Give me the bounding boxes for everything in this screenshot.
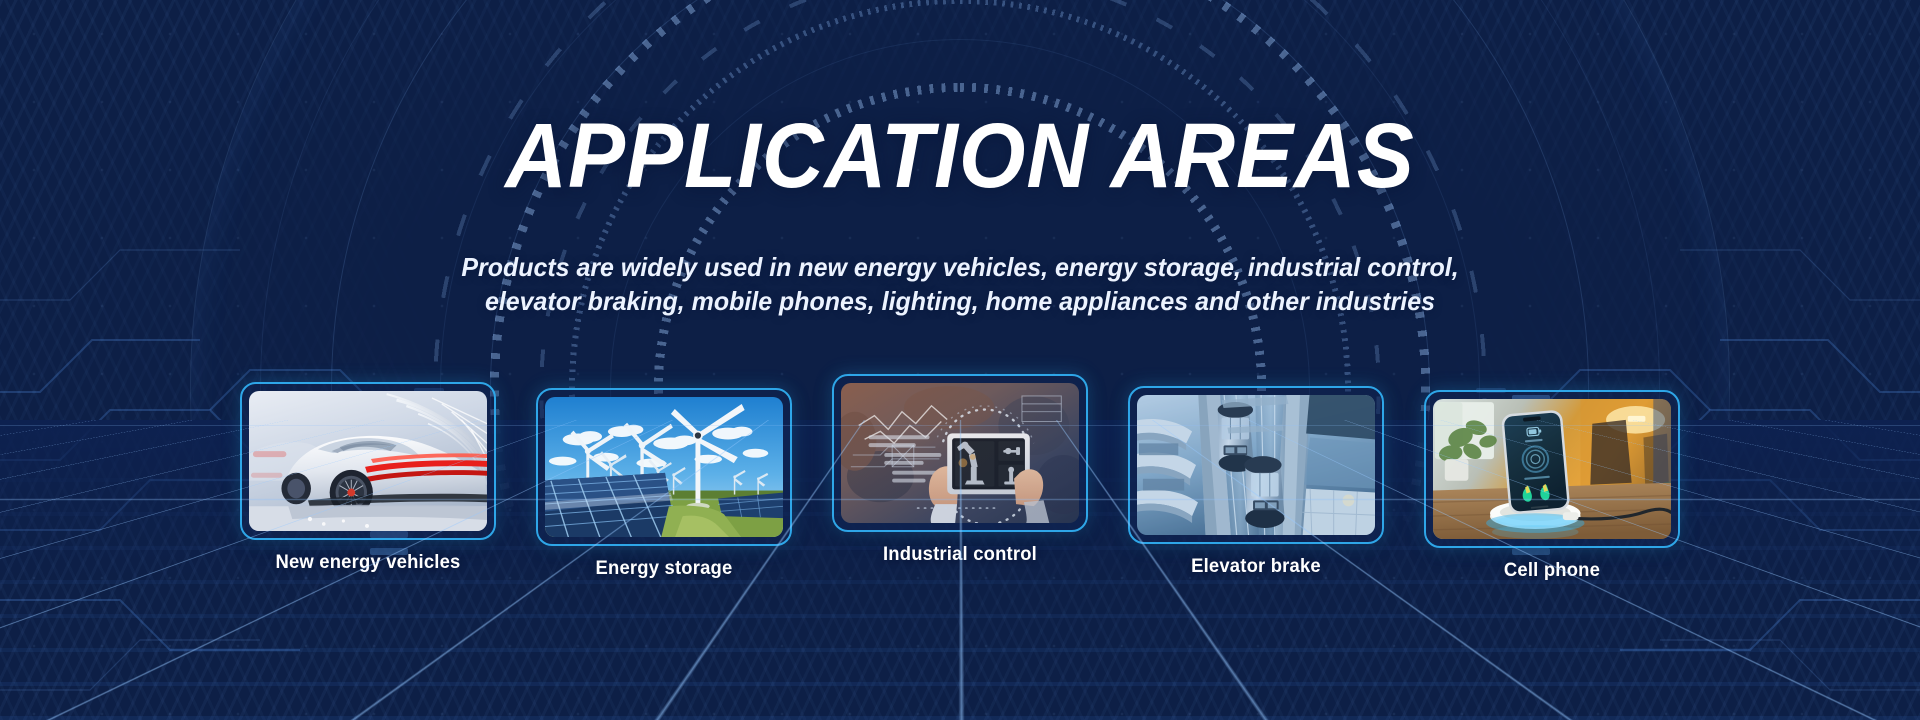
application-areas-banner: APPLICATION AREAS Products are widely us… [0, 0, 1920, 720]
card-frame[interactable] [536, 388, 792, 546]
card-label: Cell phone [1428, 560, 1676, 582]
tablet-robotic-arm-photo [841, 383, 1079, 523]
card-label: New energy vehicles [244, 552, 492, 574]
application-card[interactable]: Cell phone [1424, 390, 1680, 582]
card-frame[interactable] [240, 382, 496, 540]
card-label: Industrial control [836, 544, 1084, 566]
application-card-row: New energy vehicles [240, 374, 1680, 582]
application-card[interactable]: New energy vehicles [240, 382, 496, 574]
card-frame[interactable] [1128, 386, 1384, 544]
page-subtitle: Products are widely used in new energy v… [403, 250, 1517, 319]
solar-panels-wind-turbines-photo [545, 397, 783, 537]
application-card[interactable]: Energy storage [536, 388, 792, 580]
subtitle-line-1: Products are widely used in new energy v… [403, 250, 1517, 284]
page-title: APPLICATION AREAS [67, 110, 1853, 202]
application-card[interactable]: Elevator brake [1128, 386, 1384, 578]
subtitle-line-2: elevator braking, mobile phones, lightin… [403, 284, 1517, 318]
white-sports-car-photo [249, 391, 487, 531]
application-card[interactable]: Industrial control [832, 374, 1088, 566]
phone-wireless-charger-photo [1433, 399, 1671, 539]
card-frame[interactable] [832, 374, 1088, 532]
card-label: Elevator brake [1132, 556, 1380, 578]
card-frame[interactable] [1424, 390, 1680, 548]
banner-content: APPLICATION AREAS Products are widely us… [0, 0, 1920, 720]
glass-elevators-atrium-photo [1137, 395, 1375, 535]
card-label: Energy storage [540, 558, 788, 580]
